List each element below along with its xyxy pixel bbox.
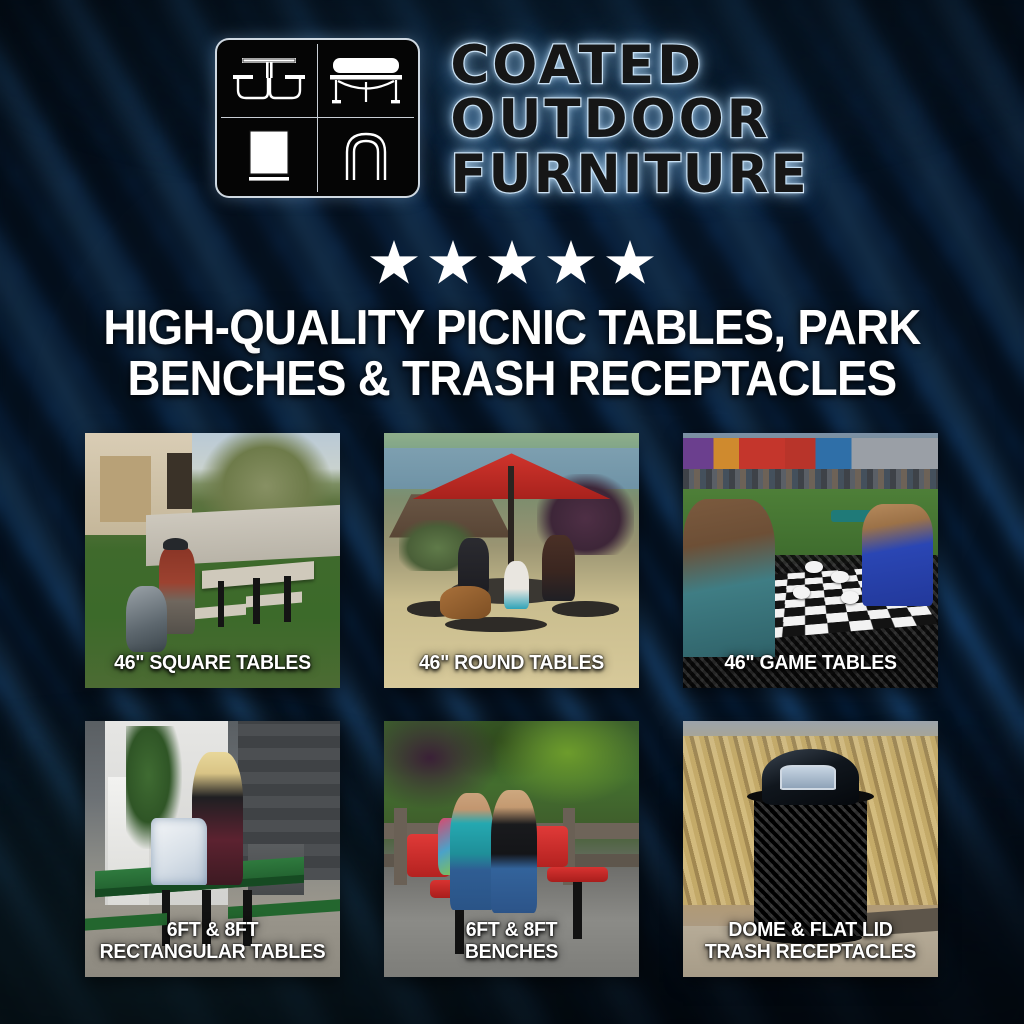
- caption-line-2: RECTANGULAR TABLES: [95, 941, 330, 963]
- product-tile-game-tables[interactable]: 46" GAME TABLES: [683, 433, 938, 688]
- trash-receptacle-icon: [221, 118, 318, 192]
- caption-line-1: 6FT & 8FT: [95, 919, 330, 941]
- picnic-table-icon: [221, 44, 318, 118]
- star-icon: [606, 240, 654, 286]
- star-icon: [547, 240, 595, 286]
- product-tile-round-tables[interactable]: 46" ROUND TABLES: [384, 433, 639, 688]
- star-rating: [0, 240, 1024, 286]
- bike-rack-arch-icon: [318, 118, 415, 192]
- product-tile-caption: 6FT & 8FT BENCHES: [390, 919, 632, 963]
- caption-line-1: 46" ROUND TABLES: [394, 652, 629, 674]
- caption-line-1: 46" SQUARE TABLES: [95, 652, 330, 674]
- caption-line-2: BENCHES: [394, 941, 629, 963]
- headline-line-2: BENCHES & TRASH RECEPTACLES: [36, 354, 988, 405]
- caption-line-1: DOME & FLAT LID: [693, 919, 928, 941]
- product-tile-rectangular-tables[interactable]: 6FT & 8FT RECTANGULAR TABLES: [85, 721, 340, 977]
- round-tables-photo: [384, 433, 639, 688]
- product-tile-caption: 6FT & 8FT RECTANGULAR TABLES: [91, 919, 333, 963]
- brand-name-line-2: OUTDOOR: [450, 94, 808, 146]
- product-category-grid: 46" SQUARE TABLES 46" ROUND TABLES: [85, 433, 939, 977]
- caption-line-1: 46" GAME TABLES: [693, 652, 928, 674]
- product-tile-caption: 46" GAME TABLES: [689, 652, 931, 674]
- product-tile-benches[interactable]: 6FT & 8FT BENCHES: [384, 721, 639, 977]
- brand-name-line-3: FURNITURE: [450, 149, 808, 201]
- product-tile-caption: 46" SQUARE TABLES: [91, 652, 333, 674]
- park-bench-icon: [318, 44, 415, 118]
- product-tile-caption: 46" ROUND TABLES: [390, 652, 632, 674]
- brand-header: COATED OUTDOOR FURNITURE: [0, 38, 1024, 201]
- star-icon: [488, 240, 536, 286]
- game-tables-photo: [683, 433, 938, 688]
- page-title: HIGH-QUALITY PICNIC TABLES, PARK BENCHES…: [36, 303, 988, 405]
- star-icon: [429, 240, 477, 286]
- brand-wordmark: COATED OUTDOOR FURNITURE: [450, 38, 808, 201]
- promotional-poster: COATED OUTDOOR FURNITURE HIGH-QUALITY PI…: [0, 0, 1024, 1024]
- headline-line-1: HIGH-QUALITY PICNIC TABLES, PARK: [36, 303, 988, 354]
- product-tile-caption: DOME & FLAT LID TRASH RECEPTACLES: [689, 919, 931, 963]
- brand-name-line-1: COATED: [450, 40, 808, 92]
- caption-line-2: TRASH RECEPTACLES: [693, 941, 928, 963]
- caption-line-1: 6FT & 8FT: [394, 919, 629, 941]
- product-tile-square-tables[interactable]: 46" SQUARE TABLES: [85, 433, 340, 688]
- brand-logo-mark: [215, 38, 420, 198]
- product-tile-trash-receptacles[interactable]: DOME & FLAT LID TRASH RECEPTACLES: [683, 721, 938, 977]
- star-icon: [370, 240, 418, 286]
- square-tables-photo: [85, 433, 340, 688]
